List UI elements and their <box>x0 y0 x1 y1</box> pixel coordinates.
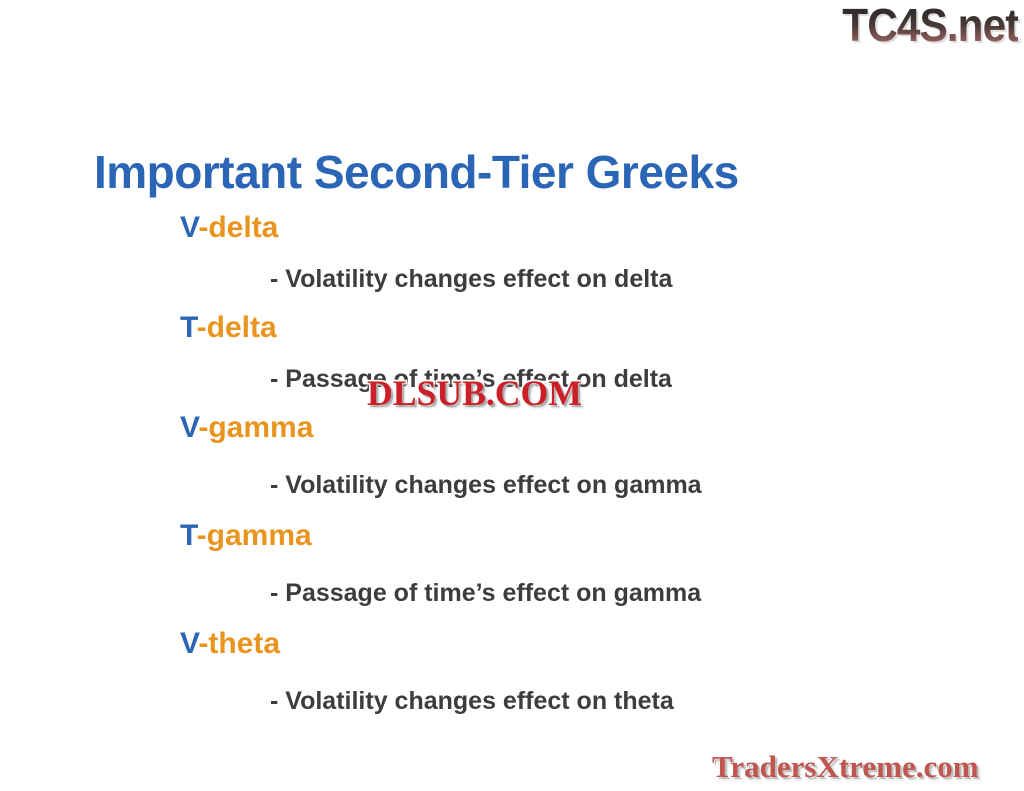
greek-term: T-delta <box>0 305 1024 351</box>
greeks-list: V-delta - Volatility changes effect on d… <box>0 205 1024 723</box>
footer-watermark: TradersXtreme.com <box>712 748 979 786</box>
greek-description: - Passage of time’s effect on gamma <box>0 571 1024 615</box>
page-title: Important Second-Tier Greeks <box>94 145 739 199</box>
greek-description: - Volatility changes effect on gamma <box>0 463 1024 507</box>
greek-description: - Volatility changes effect on theta <box>0 679 1024 723</box>
greek-term-suffix: -delta <box>198 211 278 244</box>
list-item: V-gamma - Volatility changes effect on g… <box>0 405 1024 507</box>
greek-term-suffix: -gamma <box>197 519 312 552</box>
center-watermark: DLSUB.COM <box>367 373 582 413</box>
greek-term-prefix: V <box>180 211 198 244</box>
greek-term-suffix: -delta <box>197 311 277 344</box>
greek-term-suffix: -gamma <box>198 411 313 444</box>
greek-term: V-delta <box>0 205 1024 251</box>
greek-term-prefix: T <box>180 311 197 344</box>
greek-term-prefix: V <box>180 411 198 444</box>
header-logo: TC4S.net <box>842 0 1018 52</box>
greek-description: - Volatility changes effect on delta <box>0 257 1024 301</box>
list-item: V-theta - Volatility changes effect on t… <box>0 621 1024 723</box>
greek-term: V-theta <box>0 621 1024 667</box>
slide-canvas: TC4S.net TC4S.net Important Second-Tier … <box>0 0 1024 791</box>
greek-term-suffix: -theta <box>198 627 280 660</box>
greek-term-prefix: T <box>180 519 197 552</box>
greek-term: T-gamma <box>0 513 1024 559</box>
greek-term-prefix: V <box>180 627 198 660</box>
list-item: V-delta - Volatility changes effect on d… <box>0 205 1024 301</box>
list-item: T-gamma - Passage of time’s effect on ga… <box>0 513 1024 615</box>
